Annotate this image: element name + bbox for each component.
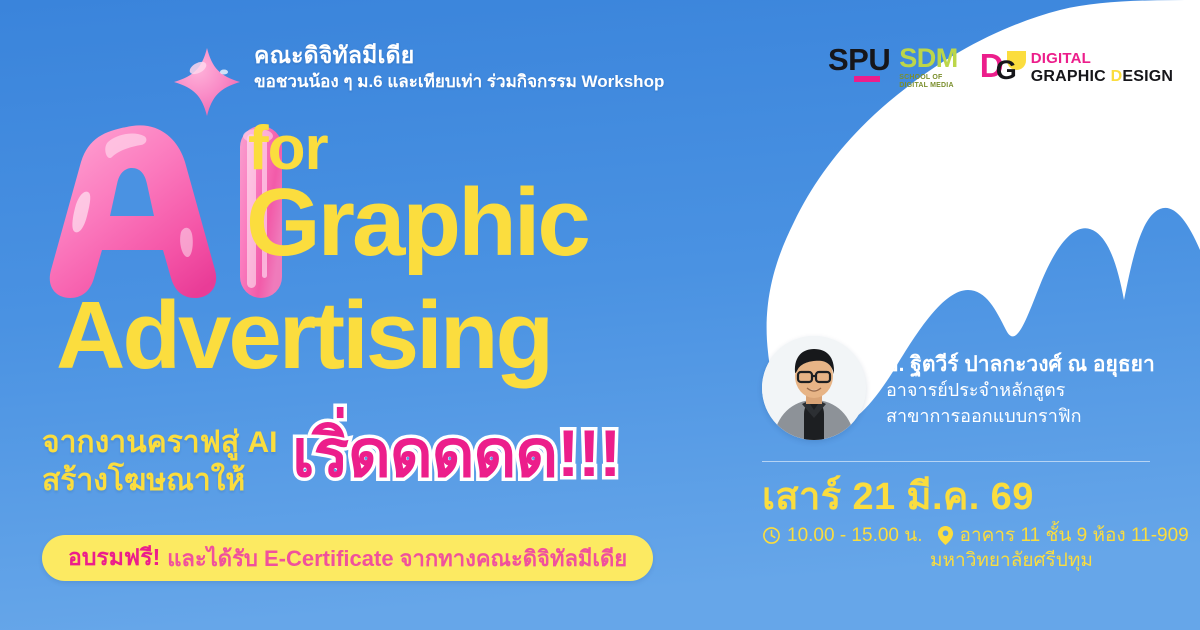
tagline-line1: จากงานคราฟสู่ AI xyxy=(42,426,278,459)
free-certificate-badge: อบรมฟรี! และได้รับ E-Certificate จากทางค… xyxy=(42,535,653,581)
event-meta-row: 10.00 - 15.00 น. อาคาร 11 ชั้น 9 ห้อง 11… xyxy=(762,523,1189,549)
event-place-line2: มหาวิทยาลัยศรีปทุม xyxy=(930,548,1093,574)
avatar xyxy=(762,336,866,440)
dgd-gd-esign: ESIGN xyxy=(1122,68,1173,85)
speaker-role-line2: สาขาการออกแบบกราฟิก xyxy=(886,404,1155,430)
speaker-role-line1: อาจารย์ประจำหลักสูตร xyxy=(886,378,1155,404)
dgd-monogram: D G xyxy=(980,51,1024,85)
sdm-subtitle-line1: SCHOOL OF xyxy=(899,74,942,81)
location-pin-icon xyxy=(937,525,954,546)
speaker-meta: อ. ฐิตวีร์ ปาลกะวงศ์ ณ อยุธยา อาจารย์ประ… xyxy=(886,347,1155,429)
spu-sdm-logo: SPU SDM SCHOOL OF DIGITAL MEDIA xyxy=(828,45,958,91)
spu-underline-bar xyxy=(854,76,880,82)
tagline-line2: สร้างโฆษณาให้ xyxy=(42,464,245,497)
dgd-gd-graphic: GRAPHIC xyxy=(1031,68,1111,85)
sdm-subtitle: SCHOOL OF DIGITAL MEDIA xyxy=(899,74,958,92)
title-advertising: Advertising xyxy=(56,288,551,384)
dgd-wordmark: DIGITAL GRAPHIC DESIGN xyxy=(1031,51,1173,84)
spu-wordmark: SPU xyxy=(828,45,890,74)
tagline-lines: จากงานคราฟสู่ AI สร้างโฆษณาให้ xyxy=(42,424,278,501)
speaker-block: อ. ฐิตวีร์ ปาลกะวงศ์ ณ อยุธยา อาจารย์ประ… xyxy=(762,336,1155,440)
badge-free-label: อบรมฟรี! xyxy=(68,540,160,576)
header-text-block: คณะดิจิทัลมีเดีย ขอชวนน้อง ๆ ม.6 และเทีย… xyxy=(254,42,724,93)
spu-mark: SPU xyxy=(828,45,890,82)
dgd-logo: D G DIGITAL GRAPHIC DESIGN xyxy=(980,51,1173,85)
event-time-item: 10.00 - 15.00 น. xyxy=(762,523,923,549)
faculty-name: คณะดิจิทัลมีเดีย xyxy=(254,42,724,68)
title-graphic: Graphic xyxy=(246,175,588,271)
dgd-word-digital: DIGITAL xyxy=(1031,51,1173,67)
section-divider xyxy=(762,461,1150,462)
sdm-subtitle-line2: DIGITAL MEDIA xyxy=(899,82,953,89)
dgd-gd-d-highlight: D xyxy=(1111,68,1123,85)
speaker-name: อ. ฐิตวีร์ ปาลกะวงศ์ ณ อยุธยา xyxy=(886,351,1155,378)
event-place-line1: อาคาร 11 ชั้น 9 ห้อง 11-909 xyxy=(960,523,1189,549)
tagline-pop: เริ่ดดดดด!!! xyxy=(292,418,620,489)
event-place-item: อาคาร 11 ชั้น 9 ห้อง 11-909 xyxy=(937,523,1189,549)
sdm-wordmark: SDM xyxy=(899,46,958,72)
invite-line: ขอชวนน้อง ๆ ม.6 และเทียบเท่า ร่วมกิจกรรม… xyxy=(254,72,724,92)
clock-icon xyxy=(762,526,781,545)
promo-banner: คณะดิจิทัลมีเดีย ขอชวนน้อง ๆ ม.6 และเทีย… xyxy=(0,0,1200,630)
sdm-mark: SDM SCHOOL OF DIGITAL MEDIA xyxy=(899,45,958,91)
badge-certificate-label: และได้รับ E-Certificate จากทางคณะดิจิทัล… xyxy=(167,541,627,576)
dgd-letter-g: G xyxy=(996,57,1017,84)
speaker-portrait xyxy=(762,336,866,440)
dgd-word-graphic-design: GRAPHIC DESIGN xyxy=(1031,68,1173,85)
event-time: 10.00 - 15.00 น. xyxy=(787,523,923,549)
event-date: เสาร์ 21 มี.ค. 69 xyxy=(762,477,1034,519)
logo-lockup: SPU SDM SCHOOL OF DIGITAL MEDIA D G DIGI… xyxy=(828,45,1173,91)
tagline-block: จากงานคราฟสู่ AI สร้างโฆษณาให้ เริ่ดดดดด… xyxy=(42,424,702,501)
letter-a-balloon xyxy=(50,125,216,298)
